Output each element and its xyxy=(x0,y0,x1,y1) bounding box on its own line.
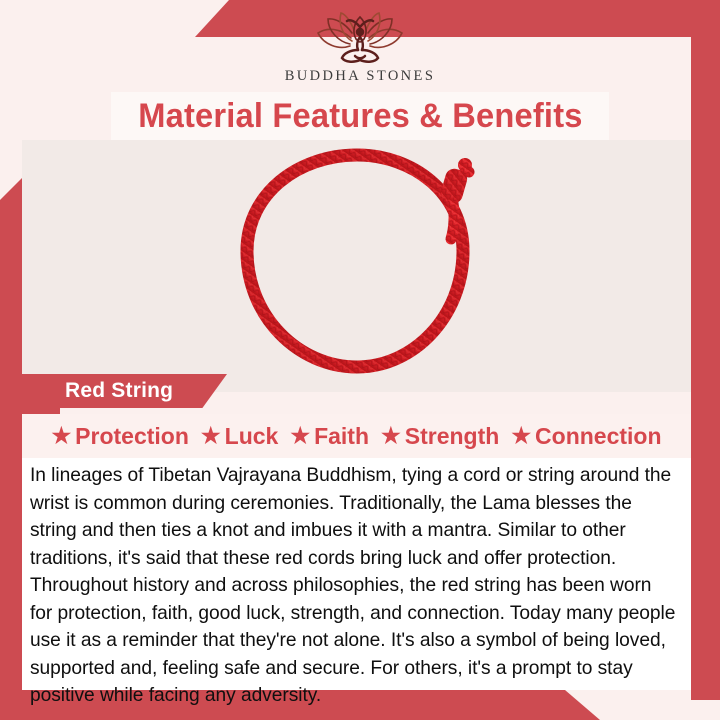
benefits-strip: ★ Protection ★ Luck ★ Faith ★ Strength ★… xyxy=(22,414,691,458)
benefit-label: Faith xyxy=(314,423,369,450)
description-panel: In lineages of Tibetan Vajrayana Buddhis… xyxy=(22,458,691,690)
star-icon: ★ xyxy=(201,425,221,447)
benefit-item-faith: ★ Faith xyxy=(290,423,369,450)
benefit-label: Connection xyxy=(535,423,662,450)
brand-name: BUDDHA STONES xyxy=(285,68,436,85)
brand-header: BUDDHA STONES xyxy=(0,0,720,96)
red-braided-string-bracelet xyxy=(207,141,507,391)
benefit-item-protection: ★ Protection xyxy=(51,423,188,450)
title-banner: Material Features & Benefits xyxy=(111,92,609,140)
star-icon: ★ xyxy=(290,425,310,447)
benefit-label: Protection xyxy=(75,423,189,450)
description-text: In lineages of Tibetan Vajrayana Buddhis… xyxy=(30,462,677,710)
page-title: Material Features & Benefits xyxy=(138,97,582,136)
poster-root: BUDDHA STONES Material Features & Benefi… xyxy=(0,0,720,720)
benefit-item-strength: ★ Strength xyxy=(381,423,499,450)
lotus-meditation-icon xyxy=(310,10,410,66)
star-icon: ★ xyxy=(381,425,401,447)
decorative-band-right xyxy=(691,0,720,700)
product-name-ribbon: Red String xyxy=(22,374,227,408)
benefit-label: Strength xyxy=(405,423,500,450)
ribbon-label: Red String xyxy=(65,379,173,403)
benefit-item-luck: ★ Luck xyxy=(201,423,278,450)
decorative-band-left xyxy=(0,178,22,720)
product-stage xyxy=(22,140,691,392)
benefit-label: Luck xyxy=(225,423,279,450)
star-icon: ★ xyxy=(511,425,531,447)
benefit-item-connection: ★ Connection xyxy=(511,423,661,450)
star-icon: ★ xyxy=(51,425,71,447)
